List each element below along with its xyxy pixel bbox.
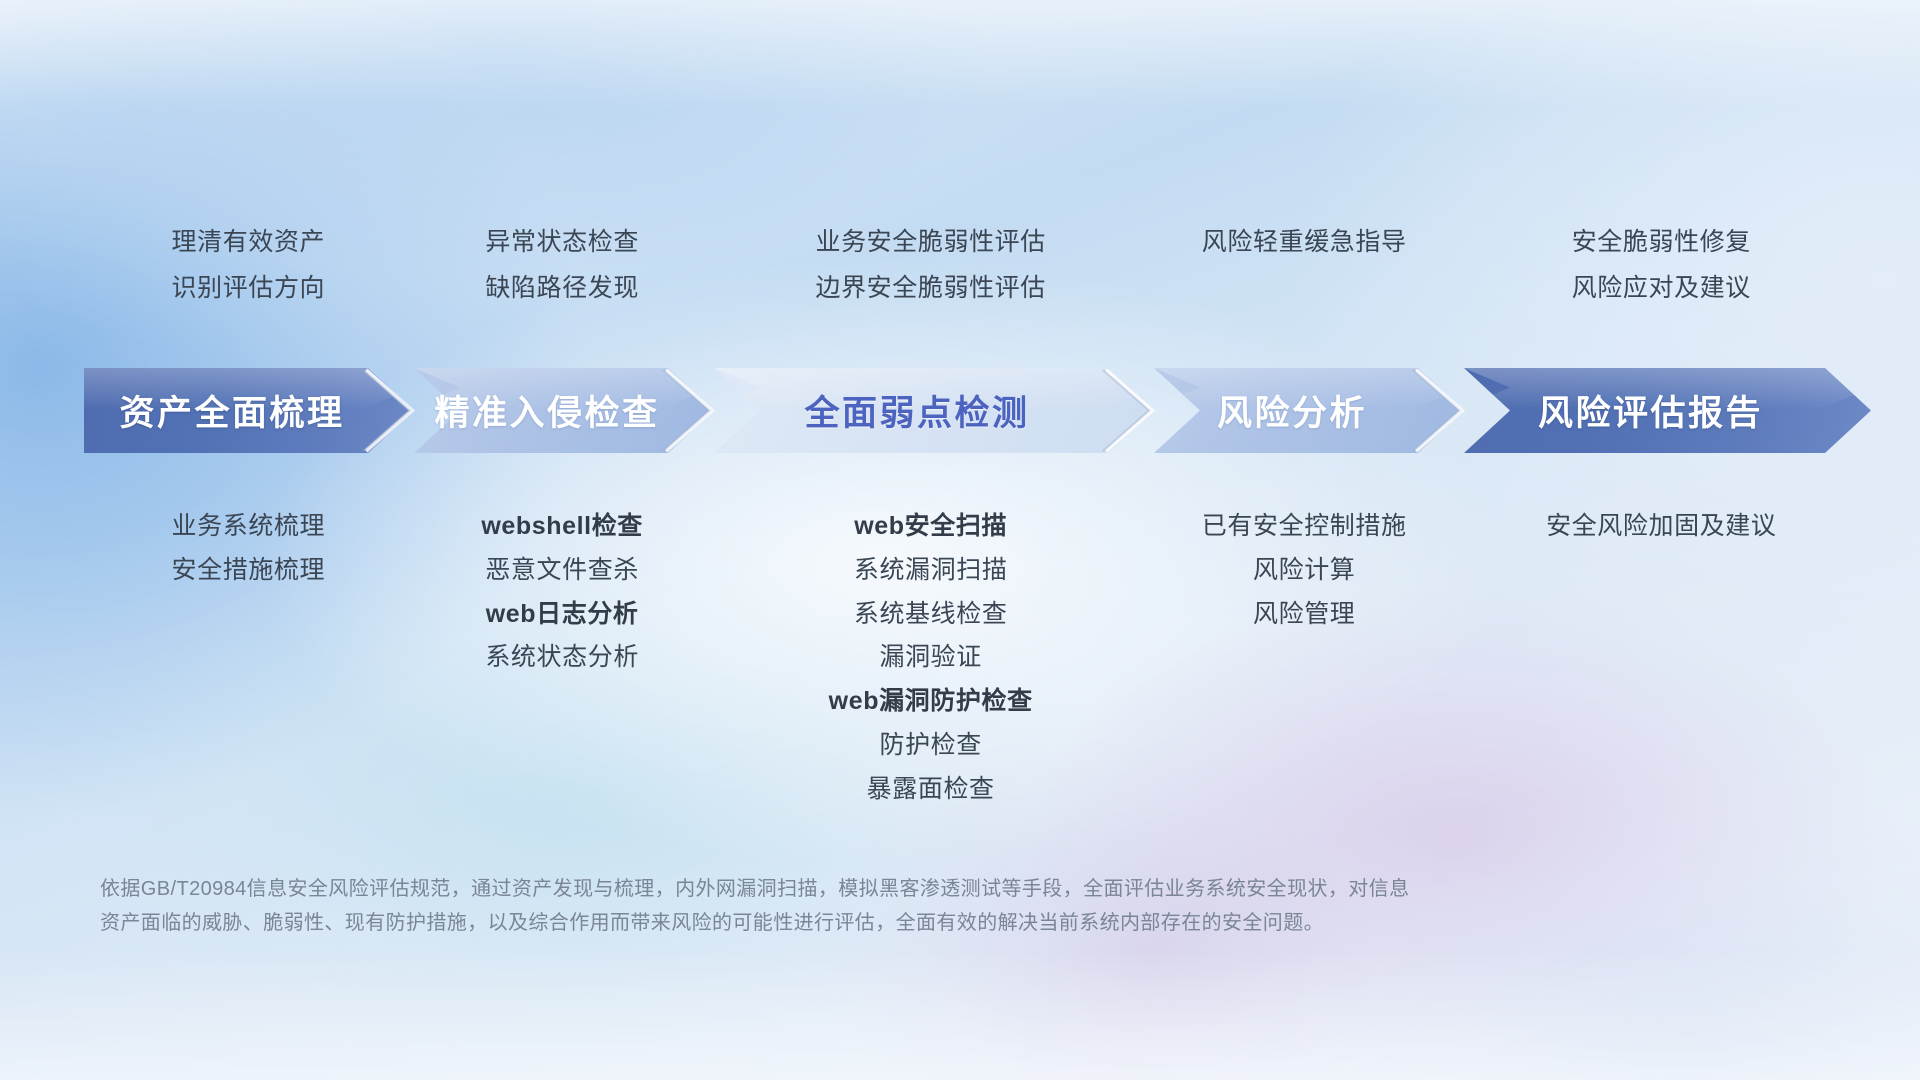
bottom-descriptor-item: 业务系统梳理	[172, 512, 326, 541]
bottom-descriptor-column-3: web安全扫描系统漏洞扫描系统基线检查漏洞验证web漏洞防护检查防护检查暴露面检…	[712, 512, 1150, 803]
bottom-descriptor-item: 风险计算	[1253, 556, 1355, 585]
top-descriptor-item: 安全脆弱性修复	[1572, 228, 1751, 257]
top-descriptor-item: 异常状态检查	[485, 228, 639, 257]
bottom-descriptor-column-2: webshell检查恶意文件查杀web日志分析系统状态分析	[413, 512, 712, 672]
process-stage-label: 精准入侵检查	[434, 385, 659, 436]
bottom-descriptor-item: webshell检查	[481, 512, 643, 541]
bottom-descriptor-item: 安全风险加固及建议	[1546, 512, 1776, 541]
bottom-descriptor-item: 安全措施梳理	[172, 556, 326, 585]
bottom-descriptor-column-5: 安全风险加固及建议	[1459, 512, 1864, 541]
top-descriptor-column-1: 理清有效资产识别评估方向	[84, 228, 413, 303]
bottom-descriptor-item: web日志分析	[486, 600, 639, 629]
bottom-descriptor-item: 风险管理	[1253, 600, 1355, 629]
top-descriptor-item: 风险应对及建议	[1572, 274, 1751, 303]
top-descriptor-column-2: 异常状态检查缺陷路径发现	[413, 228, 712, 303]
top-descriptor-item: 识别评估方向	[172, 274, 326, 303]
top-descriptor-item: 理清有效资产	[172, 228, 326, 257]
process-stage-4[interactable]: 风险分析	[1154, 368, 1464, 453]
process-stage-3[interactable]: 全面弱点检测	[714, 368, 1154, 453]
process-chevron-band: 资产全面梳理精准入侵检查全面弱点检测风险分析风险评估报告	[84, 368, 1871, 453]
bottom-descriptor-column-4: 已有安全控制措施风险计算风险管理	[1150, 512, 1459, 628]
bottom-descriptor-item: 系统基线检查	[854, 600, 1008, 629]
top-descriptor-item: 缺陷路径发现	[485, 274, 639, 303]
top-descriptor-item: 边界安全脆弱性评估	[815, 274, 1045, 303]
bottom-descriptor-item: 系统漏洞扫描	[854, 556, 1008, 585]
top-descriptor-column-5: 安全脆弱性修复风险应对及建议	[1459, 228, 1864, 303]
bottom-descriptor-item: 系统状态分析	[485, 643, 639, 672]
bottom-descriptor-item: 暴露面检查	[867, 775, 995, 804]
process-stage-5[interactable]: 风险评估报告	[1464, 368, 1871, 453]
diagram-content: 理清有效资产识别评估方向异常状态检查缺陷路径发现业务安全脆弱性评估边界安全脆弱性…	[0, 0, 1920, 1080]
process-stage-1[interactable]: 资产全面梳理	[84, 368, 414, 453]
footer-line-1: 依据GB/T20984信息安全风险评估规范，通过资产发现与梳理，内外网漏洞扫描，…	[100, 872, 1700, 906]
process-stage-label: 资产全面梳理	[119, 385, 344, 436]
process-stage-label: 风险评估报告	[1538, 385, 1763, 436]
bottom-descriptor-item: 防护检查	[879, 731, 981, 760]
footer-paragraph: 依据GB/T20984信息安全风险评估规范，通过资产发现与梳理，内外网漏洞扫描，…	[100, 872, 1700, 940]
top-descriptor-column-3: 业务安全脆弱性评估边界安全脆弱性评估	[712, 228, 1150, 303]
bottom-descriptor-item: 已有安全控制措施	[1202, 512, 1407, 541]
bottom-descriptor-item: 恶意文件查杀	[485, 556, 639, 585]
process-stage-label: 全面弱点检测	[804, 385, 1029, 436]
top-descriptor-row: 理清有效资产识别评估方向异常状态检查缺陷路径发现业务安全脆弱性评估边界安全脆弱性…	[84, 228, 1864, 303]
process-stage-2[interactable]: 精准入侵检查	[414, 368, 714, 453]
bottom-descriptor-row: 业务系统梳理安全措施梳理webshell检查恶意文件查杀web日志分析系统状态分…	[84, 512, 1864, 803]
bottom-descriptor-item: web安全扫描	[854, 512, 1007, 541]
process-stage-label: 风险分析	[1217, 385, 1367, 436]
footer-line-2: 资产面临的威胁、脆弱性、现有防护措施，以及综合作用而带来风险的可能性进行评估，全…	[100, 906, 1700, 940]
bottom-descriptor-column-1: 业务系统梳理安全措施梳理	[84, 512, 413, 585]
top-descriptor-item: 风险轻重缓急指导	[1202, 228, 1407, 257]
slide-canvas: 理清有效资产识别评估方向异常状态检查缺陷路径发现业务安全脆弱性评估边界安全脆弱性…	[0, 0, 1920, 1080]
top-descriptor-column-4: 风险轻重缓急指导	[1150, 228, 1459, 303]
bottom-descriptor-item: 漏洞验证	[879, 643, 981, 672]
bottom-descriptor-item: web漏洞防护检查	[829, 687, 1033, 716]
top-descriptor-item: 业务安全脆弱性评估	[815, 228, 1045, 257]
